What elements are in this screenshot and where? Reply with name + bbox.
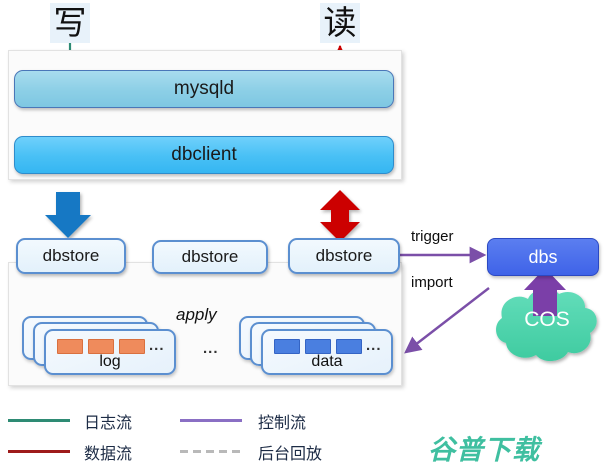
dbstore-node-2[interactable]: dbstore bbox=[152, 240, 268, 274]
legend-line-log-flow bbox=[8, 419, 70, 422]
log-chip-ellipsis: ... bbox=[149, 337, 165, 354]
read-block-arrow bbox=[320, 190, 360, 242]
data-card-label: data bbox=[263, 353, 391, 371]
read-access-label: 读 bbox=[320, 3, 360, 43]
log-chip-1 bbox=[57, 339, 83, 354]
data-chip-1 bbox=[274, 339, 300, 354]
architecture-diagram: 写 读 mysqld dbclient dbstore dbstore dbst… bbox=[0, 0, 605, 474]
dbclient-node[interactable]: dbclient bbox=[14, 136, 394, 174]
apply-label: apply bbox=[176, 305, 217, 325]
data-chip-ellipsis: ... bbox=[366, 337, 382, 354]
write-access-label: 写 bbox=[50, 3, 90, 43]
write-block-arrow bbox=[45, 192, 91, 238]
data-chip-3 bbox=[336, 339, 362, 354]
legend-label-data-flow: 数据流 bbox=[84, 440, 132, 464]
legend-label-background-replay: 后台回放 bbox=[258, 440, 322, 464]
dbstore-node-3[interactable]: dbstore bbox=[288, 238, 400, 274]
cos-node[interactable]: COS bbox=[492, 286, 602, 366]
legend-line-control-flow bbox=[180, 419, 242, 422]
legend-line-data-flow bbox=[8, 450, 70, 453]
log-chip-2 bbox=[88, 339, 114, 354]
import-arrow bbox=[406, 288, 489, 352]
dbs-node[interactable]: dbs bbox=[487, 238, 599, 276]
import-label: import bbox=[411, 274, 453, 291]
data-chip-2 bbox=[305, 339, 331, 354]
log-card-front[interactable]: ... log bbox=[44, 329, 176, 375]
dbstore-node-1[interactable]: dbstore bbox=[16, 238, 126, 274]
legend-label-control-flow: 控制流 bbox=[258, 409, 306, 433]
trigger-label: trigger bbox=[411, 228, 454, 245]
legend-line-background-replay bbox=[180, 450, 242, 453]
mysqld-node[interactable]: mysqld bbox=[14, 70, 394, 108]
data-card-front[interactable]: ... data bbox=[261, 329, 393, 375]
cos-label: COS bbox=[492, 308, 602, 332]
log-card-label: log bbox=[46, 353, 174, 371]
watermark-text: 谷普下载 bbox=[428, 428, 540, 467]
storage-middle-ellipsis: ... bbox=[203, 340, 219, 357]
log-chip-3 bbox=[119, 339, 145, 354]
legend-label-log-flow: 日志流 bbox=[84, 409, 132, 433]
